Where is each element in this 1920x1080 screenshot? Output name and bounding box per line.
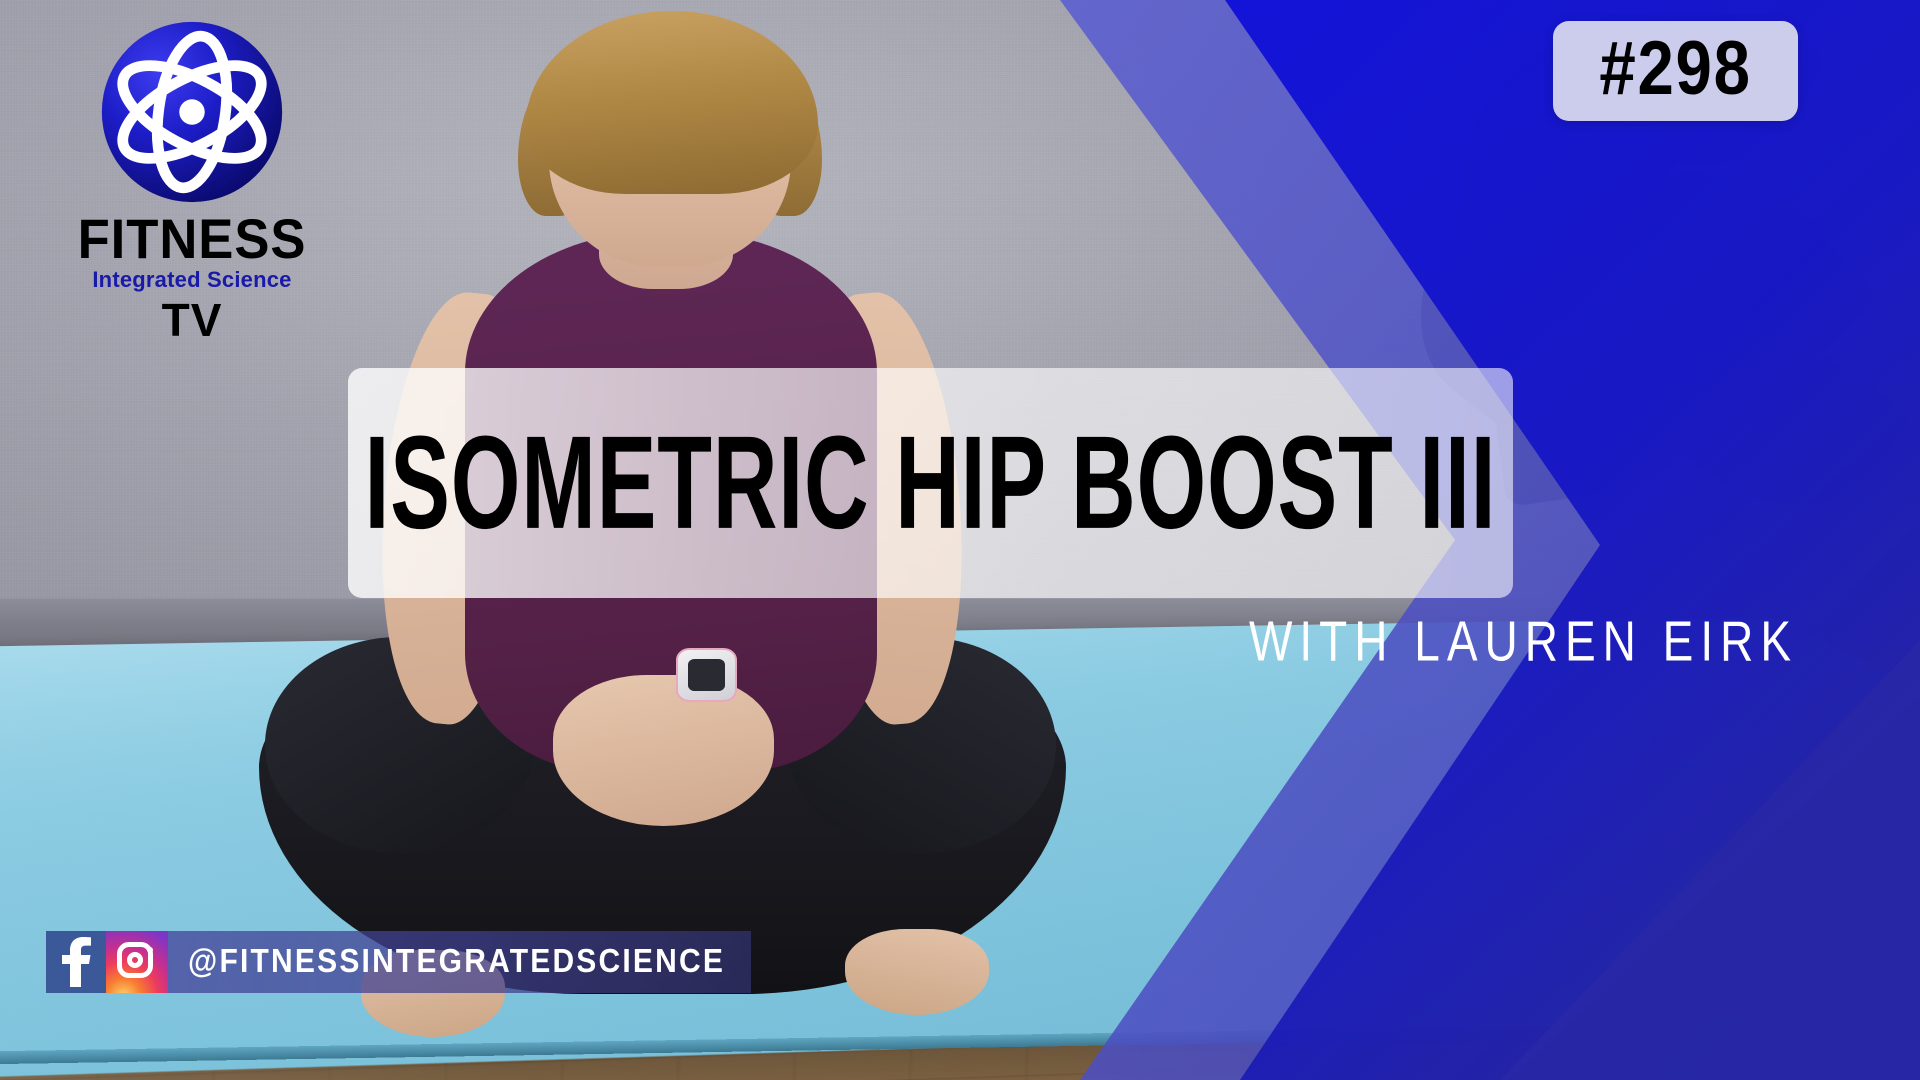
brand-logo: FITNESS Integrated Science TV [62,14,322,345]
instagram-icon[interactable] [106,931,168,993]
social-handle-bar: @FITNESSINTEGRATEDSCIENCE [46,931,751,993]
facebook-icon[interactable] [46,931,106,993]
logo-wordmark-fitness: FITNESS [70,212,314,265]
instagram-lens [127,952,143,968]
logo-wordmark-tv: TV [62,295,322,346]
title-banner: ISOMETRIC HIP BOOST III [348,368,1513,598]
video-title: ISOMETRIC HIP BOOST III [365,417,1497,549]
instagram-dot [147,947,153,953]
atom-icon [94,14,290,210]
presenter-subtitle: WITH LAUREN EIRK [1249,608,1798,674]
episode-number-text: #298 [1599,31,1751,107]
episode-number-badge: #298 [1553,21,1798,121]
video-thumbnail: FITNESS Integrated Science TV #298 ISOME… [0,0,1920,1080]
social-handle-text: @FITNESSINTEGRATEDSCIENCE [188,943,725,981]
